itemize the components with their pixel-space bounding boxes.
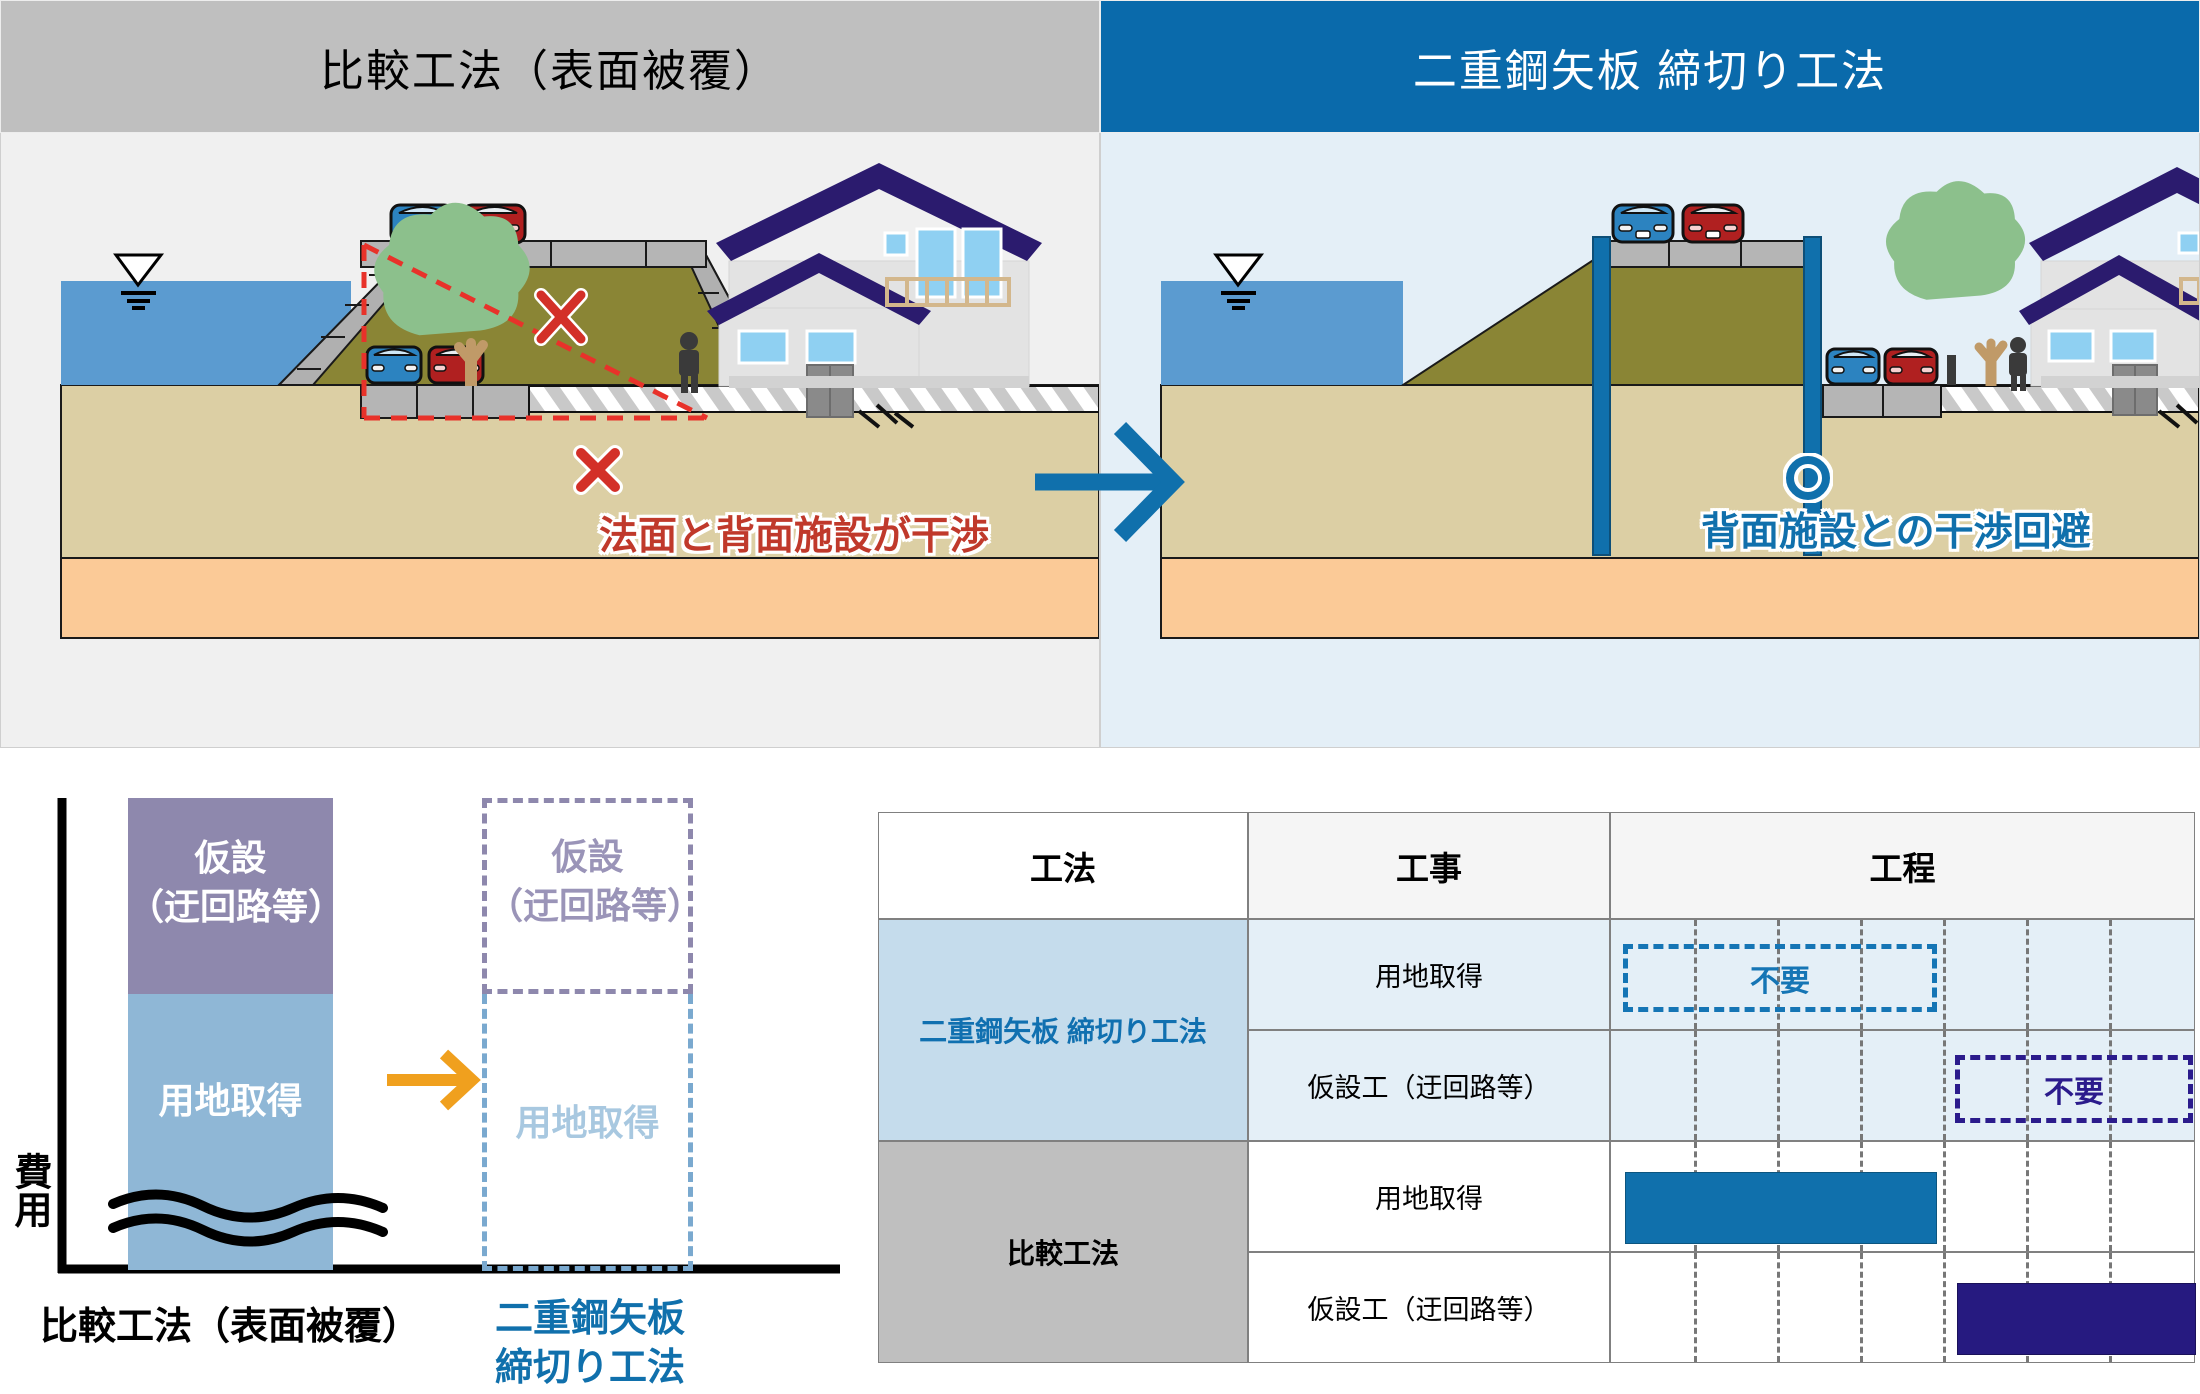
schedule-gridline	[1943, 920, 1946, 1029]
table-work-cell-comparison-temporary: 仮設工（迂回路等）	[1248, 1252, 1610, 1363]
chart-xtick-label-2-line2: 締切り工法	[435, 1344, 745, 1393]
schedule-gridline	[2109, 1142, 2112, 1251]
schedule-comparison-table: 工法 工事 工程 二重鋼矢板 締切り工法 用地取得 仮設工（迂回路等） 不要 不…	[878, 812, 2195, 1363]
chart-xtick-label-2-line1: 二重鋼矢板	[435, 1295, 745, 1344]
bar-proposed-landacq: 用地取得	[482, 994, 693, 1271]
steel-sheet-pile-front	[1593, 237, 1610, 555]
schedule-gridline	[1777, 1031, 1780, 1140]
house-icon	[2019, 167, 2199, 415]
schedule-gridline	[2026, 920, 2029, 1029]
bar2-temp-label-2: （迂回路等）	[487, 882, 688, 931]
panel-left-illustration: 法面と背面施設が干渉	[0, 133, 1100, 748]
car-blue-back	[1827, 349, 1879, 384]
chart-y-axis-label: 費用	[2, 1152, 57, 1228]
callout-right-text: 背面施設との干渉回避	[1701, 501, 2091, 557]
comparison-section: 比較工法（表面被覆）	[0, 0, 2200, 748]
callout-cross-mark	[571, 443, 625, 497]
callout-circle-mark	[1783, 453, 1833, 503]
schedule-gridline	[2109, 920, 2112, 1029]
bar1-land-label: 用地取得	[128, 1072, 333, 1124]
chart-xtick-label-1: 比較工法（表面被覆）	[40, 1295, 420, 1350]
cost-reduction-arrow-icon	[382, 1040, 492, 1120]
schedule-gridline	[1694, 1253, 1697, 1362]
schedule-gridline	[1860, 1031, 1863, 1140]
schedule-bar-label-proposed-temporary: 不要	[2044, 1067, 2104, 1111]
bar1-temp-label-1: 仮設	[128, 834, 333, 883]
bar1-temp-label-2: （迂回路等）	[128, 883, 333, 932]
cross-section-diagram-proposed	[1101, 133, 2199, 746]
schedule-gridline	[1943, 1031, 1946, 1140]
panel-comparison-method: 比較工法（表面被覆）	[0, 0, 1100, 748]
schedule-gridline	[1943, 1142, 1946, 1251]
cross-section-diagram-comparison	[1, 133, 1099, 746]
table-schedule-cell-comparison-landacq	[1610, 1141, 2195, 1252]
person-icon	[2009, 337, 2027, 391]
table-work-cell-comparison-landacq: 用地取得	[1248, 1141, 1610, 1252]
table-schedule-cell-comparison-temporary	[1610, 1252, 2195, 1363]
car-red-crest	[1683, 205, 1743, 242]
house-icon	[707, 163, 1042, 417]
schedule-gridline	[1860, 1253, 1863, 1362]
table-method-cell-proposed: 二重鋼矢板 締切り工法	[878, 919, 1248, 1141]
panel-right-illustration: 背面施設との干渉回避	[1100, 133, 2200, 748]
schedule-gridline	[1943, 1253, 1946, 1362]
car-blue-back	[367, 347, 421, 383]
car-red-back	[1885, 349, 1937, 384]
table-work-cell-proposed-landacq: 用地取得	[1248, 919, 1610, 1030]
schedule-bar-comparison-landacq	[1625, 1172, 1937, 1244]
schedule-bar-proposed-temporary: 不要	[1955, 1055, 2193, 1123]
schedule-bar-comparison-temporary	[1957, 1283, 2196, 1355]
schedule-gridline	[1777, 1253, 1780, 1362]
axis-break-wave-icon	[108, 1188, 388, 1248]
schedule-gridline	[1694, 1031, 1697, 1140]
bare-tree-icon	[1979, 343, 2003, 386]
bar2-temp-label-1: 仮設	[487, 833, 688, 882]
callout-left-text: 法面と背面施設が干渉	[599, 505, 989, 561]
table-work-cell-proposed-temporary: 仮設工（迂回路等）	[1248, 1030, 1610, 1141]
bar-comparison-temporary: 仮設 （迂回路等）	[128, 798, 333, 994]
table-header-work: 工事	[1248, 812, 1610, 919]
bar-proposed-temporary: 仮設 （迂回路等）	[482, 798, 693, 994]
table-header-schedule: 工程	[1610, 812, 2195, 919]
cost-comparison-chart: 費用 仮設 （迂回路等） 用地取得 仮設 （迂回路等） 用地取得	[0, 770, 880, 1373]
tree-icon	[1886, 181, 2025, 300]
table-schedule-cell-proposed-landacq: 不要	[1610, 919, 2195, 1030]
schedule-bar-proposed-landacq: 不要	[1623, 944, 1937, 1012]
table-header-method: 工法	[878, 812, 1248, 919]
schedule-bar-label-proposed-landacq: 不要	[1750, 956, 1810, 1000]
panel-proposed-method: 二重鋼矢板 締切り工法	[1100, 0, 2200, 748]
table-method-cell-comparison: 比較工法	[878, 1141, 1248, 1363]
car-blue-crest	[1613, 205, 1673, 242]
chart-xtick-label-2: 二重鋼矢板 締切り工法	[435, 1295, 745, 1394]
table-schedule-cell-proposed-temporary: 不要	[1610, 1030, 2195, 1141]
panel-left-title: 比較工法（表面被覆）	[0, 0, 1100, 133]
panel-right-title: 二重鋼矢板 締切り工法	[1100, 0, 2200, 133]
bar2-land-label: 用地取得	[487, 1094, 688, 1146]
schedule-gridline	[2026, 1142, 2029, 1251]
